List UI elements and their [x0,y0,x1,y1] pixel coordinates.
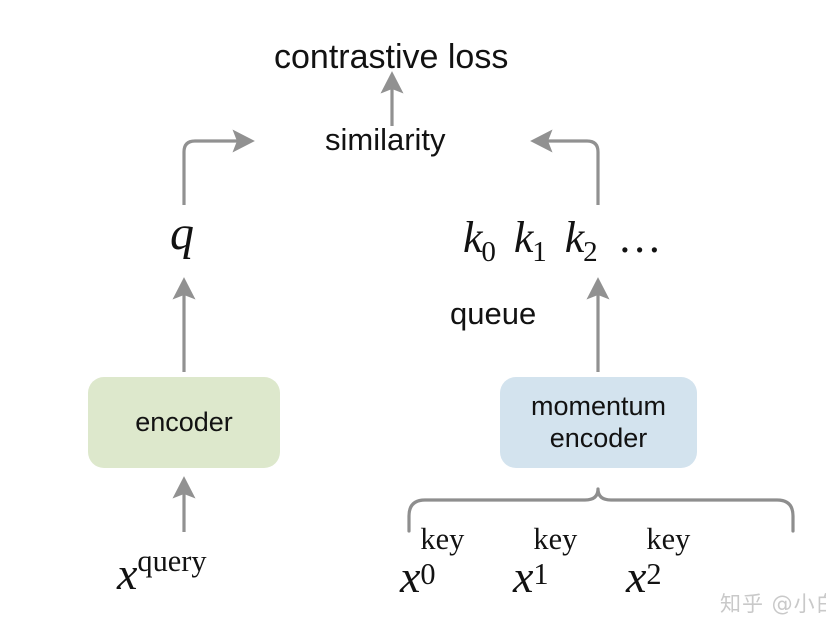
key-0-supsub: key0 [420,546,452,592]
q-label: q [170,210,194,258]
momentum-encoder-box-label-line1: momentum [531,391,666,423]
queue-label: queue [450,298,536,329]
key-inputs-brace [409,489,793,531]
momentum-encoder-box-label-line2: encoder [550,423,648,455]
keys-ellipsis: … [618,213,662,262]
watermark: 知乎 @小白 [720,588,826,618]
key-1-supsub: key1 [533,546,565,592]
momentum-encoder-box[interactable]: momentum encoder [500,377,697,468]
arrow-keys-to-similarity [541,141,598,205]
key-2-supsub: key2 [646,546,678,592]
key-input-label-2: xkey2 [626,546,679,603]
queue-keys-group: k0k1k2… [463,212,662,263]
contrastive-loss-label: contrastive loss [274,40,508,74]
arrow-q-to-similarity [184,141,244,205]
encoder-box-label: encoder [135,407,233,439]
key-input-label-0: xkey0 [400,546,453,603]
key-token-0: k0 [463,213,496,262]
query-input-label: xquery [117,546,207,600]
key-token-1: k1 [514,213,547,262]
key-input-label-1: xkey1 [513,546,566,603]
moco-architecture-diagram: contrastive loss similarity q k0k1k2… qu… [0,0,826,634]
connector-layer [0,0,826,634]
encoder-box[interactable]: encoder [88,377,280,468]
key-token-2: k2 [565,213,598,262]
similarity-label: similarity [325,124,446,155]
